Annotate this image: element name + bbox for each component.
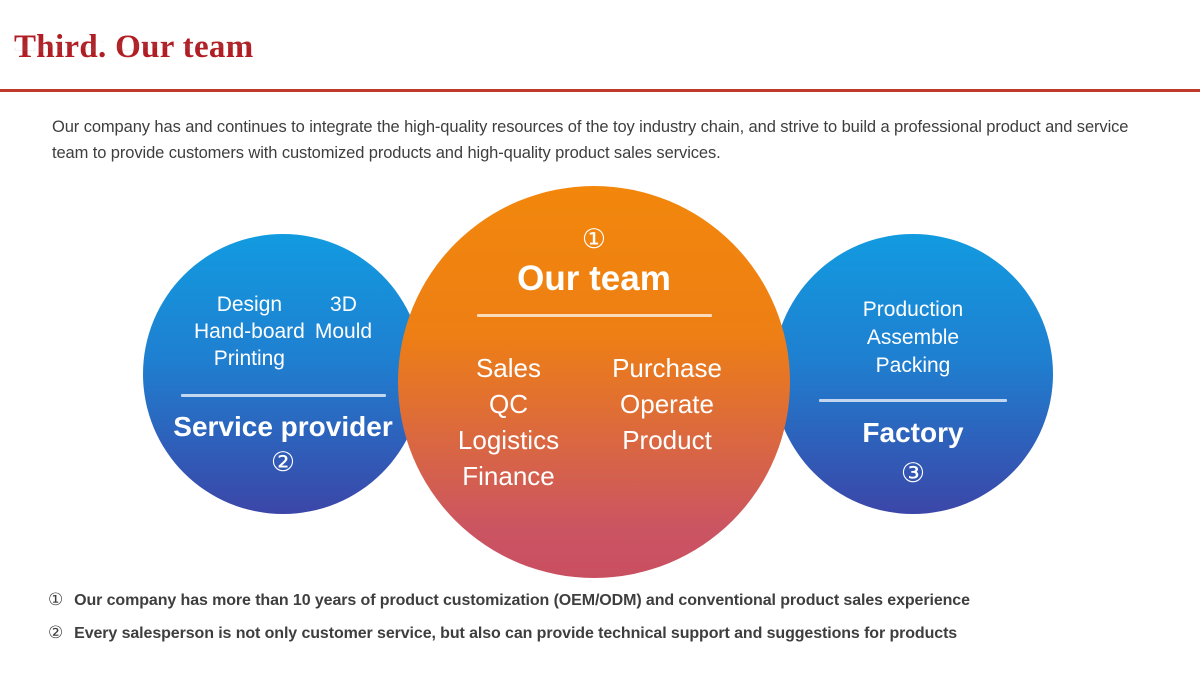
slide-root: Third. Our team Third. Our team Our comp… <box>0 0 1200 673</box>
service-provider-number-wrap: ② <box>143 449 423 476</box>
our-team-columns: Sales QC Logistics Finance Purchase Oper… <box>398 351 790 495</box>
our-team-divider <box>398 314 790 317</box>
footnote-text: Our company has more than 10 years of pr… <box>74 592 970 610</box>
our-team-heading: Our team <box>398 260 790 299</box>
intro-paragraph: Our company has and continues to integra… <box>52 115 1132 166</box>
our-team-heading-wrap: Our team <box>398 260 790 299</box>
title-divider-rule <box>0 89 1200 92</box>
circle-factory: Production Assemble Packing Factory ③ <box>773 234 1053 514</box>
circled-number-one-icon: ① <box>398 226 790 253</box>
footnote-item: ② Every salesperson is not only customer… <box>48 623 1148 643</box>
circle-our-team: ① Our team Sales QC Logistics Finance Pu… <box>398 186 790 578</box>
footnote-text: Every salesperson is not only customer s… <box>74 625 957 643</box>
page-title: Third. Our team <box>14 30 253 65</box>
list-item: Finance <box>449 459 569 495</box>
circled-number-one-icon: ① <box>48 590 63 610</box>
list-item: 3D <box>315 292 372 319</box>
list-item: Assemble <box>773 324 1053 352</box>
circled-number-two-icon: ② <box>48 623 63 643</box>
factory-heading-wrap: Factory <box>773 418 1053 449</box>
service-provider-divider <box>143 394 423 397</box>
footnote-list: ① Our company has more than 10 years of … <box>48 590 1148 656</box>
circled-number-two-icon: ② <box>143 449 423 476</box>
list-item: Packing <box>773 352 1053 380</box>
service-provider-columns: Design Hand-board Printing 3D Mould <box>143 292 423 373</box>
list-item: Production <box>773 296 1053 324</box>
service-provider-heading-wrap: Service provider <box>143 412 423 443</box>
our-team-column-b: Purchase Operate Product <box>595 351 740 459</box>
service-provider-column-a: Design Hand-board Printing <box>194 292 305 373</box>
service-provider-heading: Service provider <box>143 412 423 443</box>
list-item: Operate <box>595 387 740 423</box>
our-team-column-a: Sales QC Logistics Finance <box>449 351 569 495</box>
list-item: Printing <box>194 346 305 373</box>
circle-service-provider: Design Hand-board Printing 3D Mould Serv… <box>143 234 423 514</box>
list-item: Logistics <box>449 423 569 459</box>
list-item: Product <box>595 423 740 459</box>
list-item: Sales <box>449 351 569 387</box>
circled-number-three-icon: ③ <box>773 460 1053 487</box>
list-item: Hand-board <box>194 319 305 346</box>
list-item: Mould <box>315 319 372 346</box>
title-block: Third. Our team Third. Our team <box>14 30 253 78</box>
list-item: Purchase <box>595 351 740 387</box>
list-item: QC <box>449 387 569 423</box>
factory-heading: Factory <box>773 418 1053 449</box>
factory-divider <box>773 399 1053 402</box>
service-provider-column-b: 3D Mould <box>315 292 372 346</box>
our-team-number-wrap: ① <box>398 226 790 253</box>
factory-items: Production Assemble Packing <box>773 296 1053 380</box>
list-item: Design <box>194 292 305 319</box>
factory-number-wrap: ③ <box>773 460 1053 487</box>
footnote-item: ① Our company has more than 10 years of … <box>48 590 1148 610</box>
venn-diagram: Design Hand-board Printing 3D Mould Serv… <box>0 170 1200 590</box>
